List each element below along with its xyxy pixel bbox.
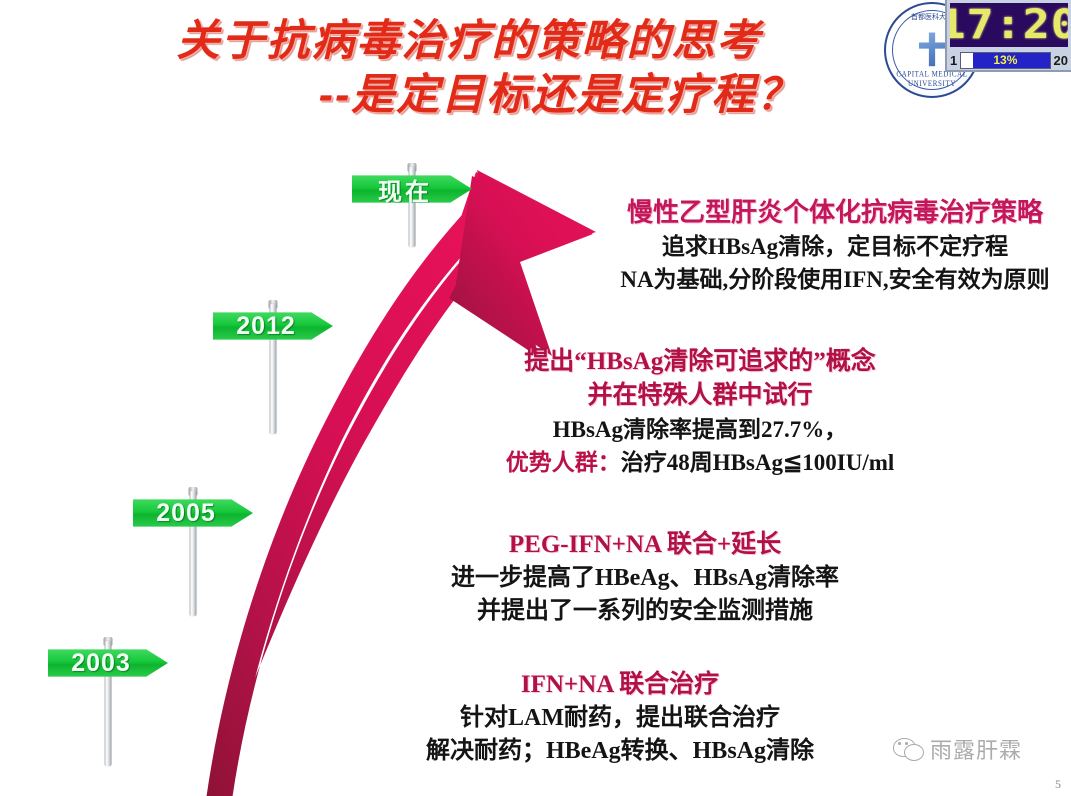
signpost-label: 现在 — [378, 172, 432, 207]
signpost-plaque[interactable]: 2012 — [213, 308, 333, 344]
signpost-label: 2005 — [156, 499, 216, 528]
y2012-line-2-rest: 治疗48周HBsAg≦100IU/ml — [621, 450, 895, 475]
signpost-2003[interactable]: 2003 — [48, 637, 168, 796]
page-number: 5 — [1055, 777, 1061, 792]
page-title: 关于抗病毒治疗的策略的思考 --是定目标还是定疗程？ — [0, 14, 930, 122]
progress-min-label: 1 — [950, 53, 957, 68]
timer-progress-row: 1 13% 20 — [950, 50, 1068, 70]
watermark-label: 雨露肝霖 — [930, 733, 1022, 765]
progress-max-label: 20 — [1054, 53, 1068, 68]
now-heading: 慢性乙型肝炎个体化抗病毒治疗策略 — [600, 196, 1070, 230]
timer-lcd-display: 17:20 — [950, 3, 1068, 47]
signpost-2012[interactable]: 2012 — [213, 300, 333, 460]
seal-name-en: CAPITAL MEDICAL UNIVERSITY — [886, 70, 978, 88]
signpost-now[interactable]: 现在 — [352, 163, 472, 273]
y2003-heading: IFN+NA 联合治疗 — [350, 668, 890, 702]
y2003-line-2: 解决耐药；HBeAg转换、HBsAg清除 — [350, 735, 890, 768]
wechat-bubbles-icon — [893, 737, 923, 761]
y2003-line-1: 针对LAM耐药，提出联合治疗 — [350, 702, 890, 735]
slide-canvas: 关于抗病毒治疗的策略的思考 --是定目标还是定疗程？ 现在 — [0, 0, 1071, 796]
wechat-watermark: 雨露肝霖 — [893, 733, 1022, 765]
signpost-label: 2012 — [236, 312, 296, 341]
signpost-plaque[interactable]: 2005 — [133, 495, 253, 531]
signpost-label: 2003 — [71, 649, 131, 678]
y2012-line-2: 优势人群：治疗48周HBsAg≦100IU/ml — [450, 446, 950, 479]
now-line-1: 追求HBsAg清除，定目标不定疗程 — [600, 230, 1070, 263]
text-block-now: 慢性乙型肝炎个体化抗病毒治疗策略 追求HBsAg清除，定目标不定疗程 NA为基础… — [600, 196, 1070, 296]
text-block-2012: 提出“HBsAg清除可追求的”概念 并在特殊人群中试行 HBsAg清除率提高到2… — [450, 345, 950, 479]
y2012-line-1: HBsAg清除率提高到27.7%， — [450, 413, 950, 446]
signpost-2005[interactable]: 2005 — [133, 487, 253, 647]
signpost-plaque[interactable]: 2003 — [48, 645, 168, 681]
progress-bar[interactable]: 13% — [960, 52, 1050, 69]
signpost-plaque[interactable]: 现在 — [352, 171, 472, 207]
y2012-heading-2: 并在特殊人群中试行 — [450, 379, 950, 413]
presentation-timer-widget[interactable]: 17:20 1 13% 20 — [945, 0, 1071, 72]
y2005-line-2: 并提出了一系列的安全监测措施 — [380, 595, 910, 628]
title-line-2: --是定目标还是定疗程？ — [0, 68, 930, 122]
y2005-heading: PEG-IFN+NA 联合+延长 — [380, 528, 910, 562]
y2012-heading-1: 提出“HBsAg清除可追求的”概念 — [450, 345, 950, 379]
progress-percent-label: 13% — [961, 53, 1049, 67]
title-line-1: 关于抗病毒治疗的策略的思考 — [0, 14, 930, 68]
y2012-line-2-accent: 优势人群： — [506, 450, 621, 475]
timer-time-value: 17:20 — [950, 5, 1068, 45]
now-line-2: NA为基础,分阶段使用IFN,安全有效为原则 — [600, 263, 1070, 296]
text-block-2005: PEG-IFN+NA 联合+延长 进一步提高了HBeAg、HBsAg清除率 并提… — [380, 528, 910, 628]
text-block-2003: IFN+NA 联合治疗 针对LAM耐药，提出联合治疗 解决耐药；HBeAg转换、… — [350, 668, 890, 768]
y2005-line-1: 进一步提高了HBeAg、HBsAg清除率 — [380, 562, 910, 595]
